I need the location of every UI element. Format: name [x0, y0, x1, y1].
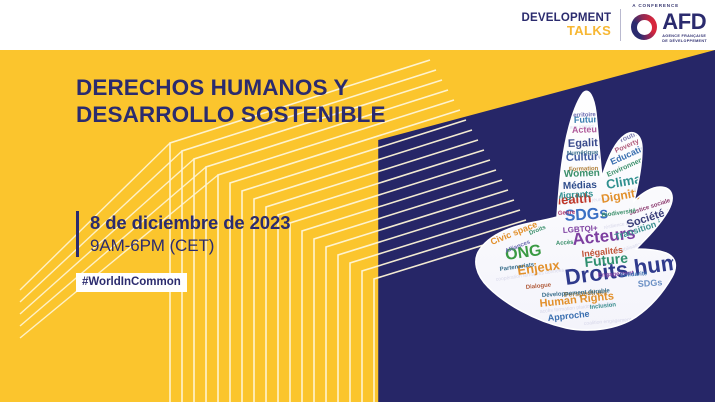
afd-tagline: AGENCE FRANÇAISE DE DÉVELOPPEMENT	[662, 34, 707, 44]
event-datetime-block: 8 de diciembre de 2023 9AM-6PM (CET)	[76, 211, 290, 257]
wordcloud-word: Accès	[556, 240, 575, 247]
hashtag-badge: #WorldInCommon	[76, 273, 187, 292]
page-title: DERECHOS HUMANOS Y DESARROLLO SOSTENIBLE	[76, 74, 386, 129]
afd-ring-icon	[631, 14, 657, 40]
brand-line-talks: TALKS	[522, 24, 612, 37]
event-date: 8 de diciembre de 2023	[90, 211, 290, 235]
logo-cluster: DEVELOPMENT TALKS A CONFERENCE AFD AGENC…	[522, 5, 708, 45]
afd-logo: A CONFERENCE AFD AGENCE FRANÇAISE DE DÉV…	[621, 5, 707, 45]
wordcloud-word: Formation	[569, 166, 599, 173]
dove-wordcloud-graphic: transparence partenariat équité coopérat…	[470, 85, 715, 310]
wordcloud-word: Numérique	[567, 150, 599, 157]
poster-canvas: transparence partenariat équité coopérat…	[0, 0, 715, 402]
wordcloud-word: Genre	[558, 210, 576, 217]
wordcloud-word: SDGs	[637, 277, 662, 289]
afd-logotype: AFD AGENCE FRANÇAISE DE DÉVELOPPEMENT	[662, 11, 707, 44]
header-bar: DEVELOPMENT TALKS A CONFERENCE AFD AGENC…	[0, 0, 715, 50]
development-talks-logo: DEVELOPMENT TALKS	[522, 13, 621, 38]
event-time: 9AM-6PM (CET)	[90, 235, 290, 257]
conference-label: A CONFERENCE	[632, 3, 679, 8]
wordcloud-word: Acteurs	[572, 124, 606, 135]
afd-acronym: AFD	[662, 11, 707, 33]
